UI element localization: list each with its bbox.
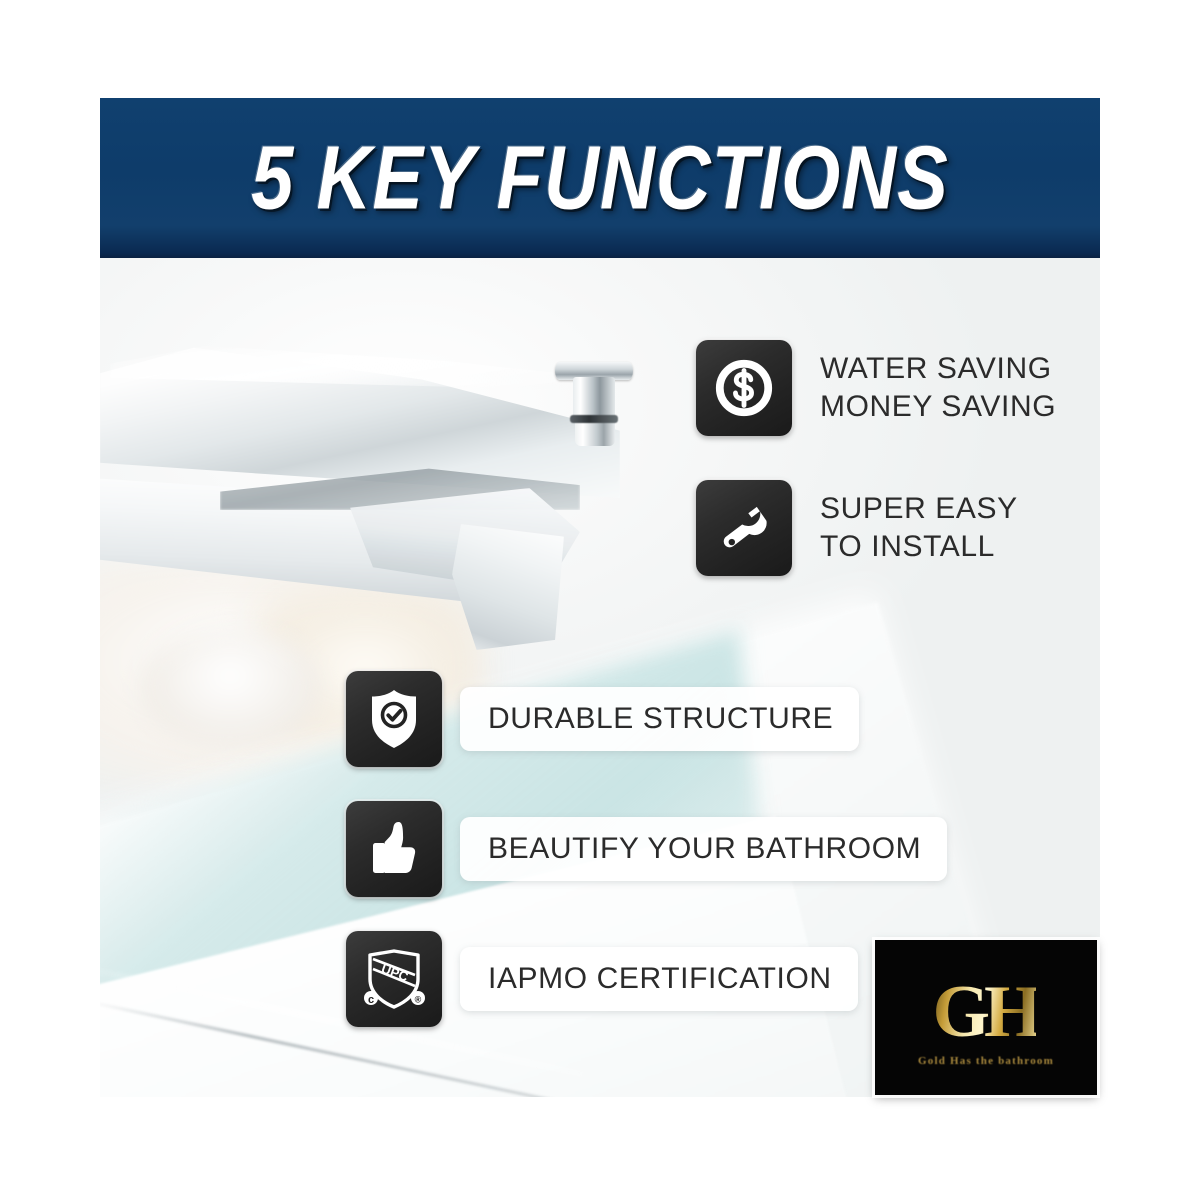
feature-label: WATER SAVING MONEY SAVING xyxy=(820,350,1056,427)
brand-logo: GH Gold Has the bathroom xyxy=(875,940,1097,1095)
feature-label-plate: BEAUTIFY YOUR BATHROOM xyxy=(460,817,947,881)
shield-check-icon xyxy=(346,671,442,767)
feature-label: IAPMO CERTIFICATION xyxy=(488,960,832,998)
page-title: 5 KEY FUNCTIONS xyxy=(251,127,949,230)
svg-text:c: c xyxy=(368,994,374,1006)
feature-label-line1: SUPER EASY xyxy=(820,492,1018,525)
brand-tagline: Gold Has the bathroom xyxy=(918,1055,1054,1067)
knob-ring xyxy=(570,415,618,423)
svg-text:UPC: UPC xyxy=(379,961,410,985)
feature-label-line1: WATER SAVING xyxy=(820,352,1052,385)
wrench-icon xyxy=(696,480,792,576)
svg-text:®: ® xyxy=(415,995,422,1005)
dollar-coin-icon xyxy=(696,340,792,436)
feature-item-easy-install: SUPER EASY TO INSTALL xyxy=(696,480,1018,576)
feature-item-durable-structure: DURABLE STRUCTURE xyxy=(346,671,859,767)
feature-label-plate: IAPMO CERTIFICATION xyxy=(460,947,858,1011)
feature-item-iapmo-certification: UPC c ® IAPMO CERTIFICATION xyxy=(346,931,858,1027)
feature-item-water-saving: WATER SAVING MONEY SAVING xyxy=(696,340,1056,436)
feature-label: BEAUTIFY YOUR BATHROOM xyxy=(488,830,921,868)
brand-monogram: GH xyxy=(932,975,1035,1049)
feature-label-plate: DURABLE STRUCTURE xyxy=(460,687,859,751)
feature-item-beautify-bathroom: BEAUTIFY YOUR BATHROOM xyxy=(346,801,947,897)
feature-label: SUPER EASY TO INSTALL xyxy=(820,490,1018,567)
spout-outlet xyxy=(452,524,564,650)
knob-stem xyxy=(573,377,615,419)
thumbs-up-icon xyxy=(346,801,442,897)
faucet-spout-image xyxy=(100,338,660,658)
diverter-knob-icon xyxy=(555,362,633,410)
knob-base xyxy=(575,420,615,446)
feature-label: DURABLE STRUCTURE xyxy=(488,700,833,738)
header-banner: 5 KEY FUNCTIONS xyxy=(100,98,1100,258)
feature-label-line2: TO INSTALL xyxy=(820,528,1018,566)
infographic-canvas: 5 KEY FUNCTIONS xyxy=(0,0,1200,1200)
cupc-shield-icon: UPC c ® xyxy=(346,931,442,1027)
feature-label-line2: MONEY SAVING xyxy=(820,388,1056,426)
